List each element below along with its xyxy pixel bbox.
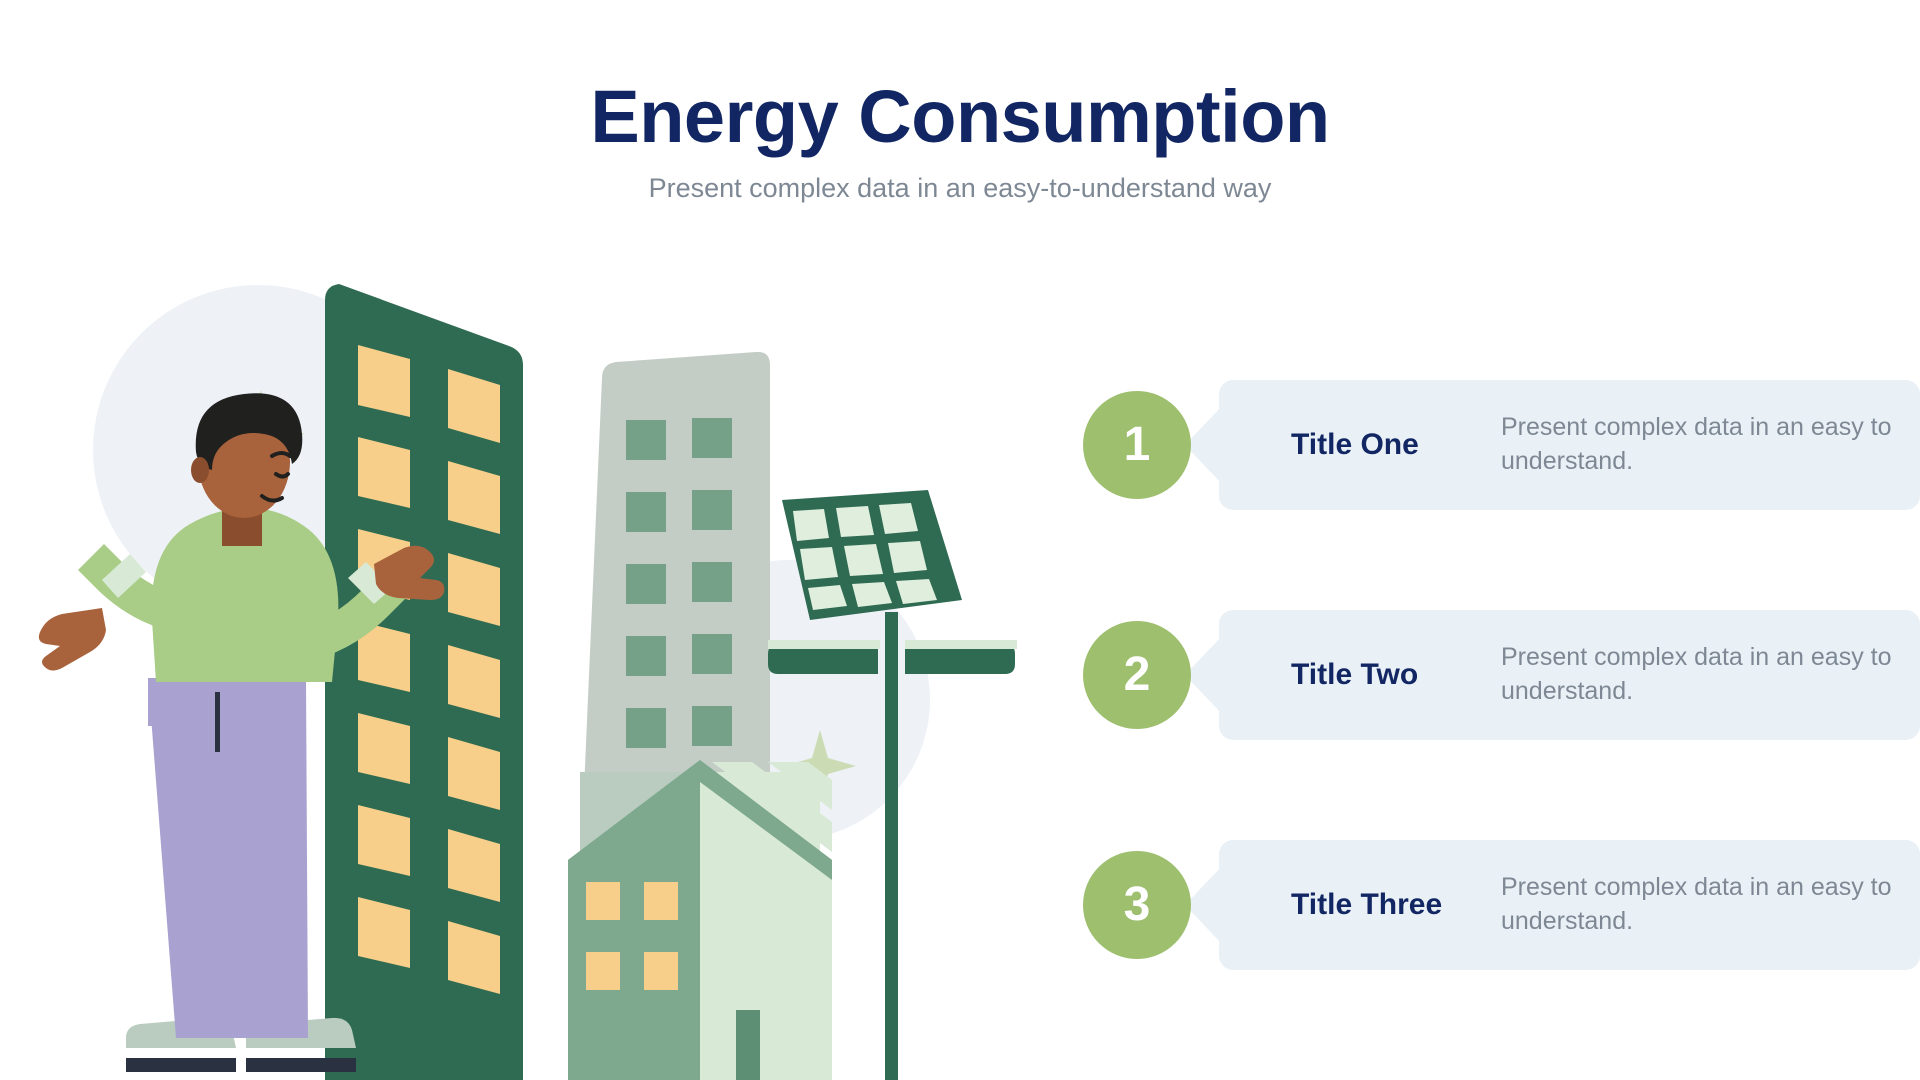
house-with-striped-roof	[568, 760, 832, 1080]
list-item-description: Present complex data in an easy to under…	[1501, 411, 1920, 479]
list-item-title: Title Three	[1291, 888, 1501, 923]
list-item[interactable]: 2 Title Two Present complex data in an e…	[1075, 610, 1920, 740]
step-number: 1	[1124, 421, 1151, 469]
list-item-description: Present complex data in an easy to under…	[1501, 641, 1920, 709]
tower-building-green	[325, 284, 523, 1080]
feature-list: 1 Title One Present complex data in an e…	[1075, 380, 1920, 970]
list-item[interactable]: 1 Title One Present complex data in an e…	[1075, 380, 1920, 510]
step-number-badge: 1	[1083, 391, 1191, 499]
list-item-card[interactable]: Title One Present complex data in an eas…	[1219, 380, 1920, 510]
step-number-badge: 3	[1083, 851, 1191, 959]
step-number: 2	[1124, 651, 1151, 699]
list-item[interactable]: 3 Title Three Present complex data in an…	[1075, 840, 1920, 970]
step-number-badge: 2	[1083, 621, 1191, 729]
step-number: 3	[1124, 881, 1151, 929]
list-item-card[interactable]: Title Three Present complex data in an e…	[1219, 840, 1920, 970]
energy-city-illustration	[0, 0, 1060, 1080]
list-item-card[interactable]: Title Two Present complex data in an eas…	[1219, 610, 1920, 740]
list-item-title: Title Two	[1291, 658, 1501, 693]
list-item-title: Title One	[1291, 428, 1501, 463]
list-item-description: Present complex data in an easy to under…	[1501, 871, 1920, 939]
